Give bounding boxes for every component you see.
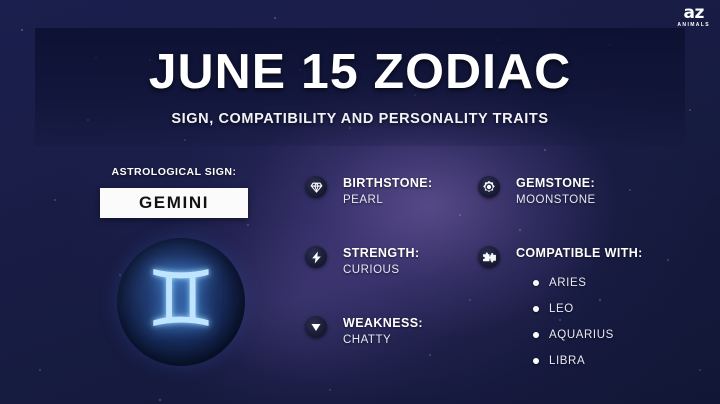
puzzle-icon xyxy=(478,246,500,268)
page-subtitle: SIGN, COMPATIBILITY AND PERSONALITY TRAI… xyxy=(0,111,720,127)
lightning-icon xyxy=(305,246,327,268)
list-item: ARIES xyxy=(533,270,614,296)
compatible-sign: AQUARIUS xyxy=(549,329,614,341)
compatible-sign: LEO xyxy=(549,303,574,315)
list-item: LIBRA xyxy=(533,348,614,374)
compatible-sign: ARIES xyxy=(549,277,587,289)
info-label: WEAKNESS: xyxy=(343,316,423,330)
gemini-symbol-icon: ♊ xyxy=(146,261,216,339)
info-label: BIRTHSTONE: xyxy=(343,176,433,190)
info-value: MOONSTONE xyxy=(516,194,596,206)
info-label: STRENGTH: xyxy=(343,246,420,260)
list-item: AQUARIUS xyxy=(533,322,614,348)
astrological-sign-name: GEMINI xyxy=(139,193,209,213)
compatible-sign: LIBRA xyxy=(549,355,585,367)
astrological-sign-box: GEMINI xyxy=(100,188,248,218)
az-animals-logo: az ANIMALS xyxy=(677,5,710,28)
bullet-icon xyxy=(533,306,539,312)
info-label: COMPATIBLE WITH: xyxy=(516,246,643,260)
info-label: GEMSTONE: xyxy=(516,176,595,190)
info-value: CHATTY xyxy=(343,334,391,346)
bullet-icon xyxy=(533,280,539,286)
gem-round-icon xyxy=(478,176,500,198)
page-title: JUNE 15 ZODIAC xyxy=(0,44,720,100)
diamond-icon xyxy=(305,176,327,198)
list-item: LEO xyxy=(533,296,614,322)
zodiac-symbol-medallion: ♊ xyxy=(117,238,245,366)
bullet-icon xyxy=(533,358,539,364)
info-value: PEARL xyxy=(343,194,383,206)
infographic-canvas: az ANIMALS JUNE 15 ZODIAC SIGN, COMPATIB… xyxy=(0,0,720,404)
compatible-signs-list: ARIES LEO AQUARIUS LIBRA xyxy=(533,270,614,374)
logo-subtext: ANIMALS xyxy=(677,23,710,28)
bullet-icon xyxy=(533,332,539,338)
info-value: CURIOUS xyxy=(343,264,400,276)
logo-wordmark: az xyxy=(677,5,710,22)
astrological-sign-label: ASTROLOGICAL SIGN: xyxy=(100,166,248,178)
triangle-down-icon xyxy=(305,316,327,338)
